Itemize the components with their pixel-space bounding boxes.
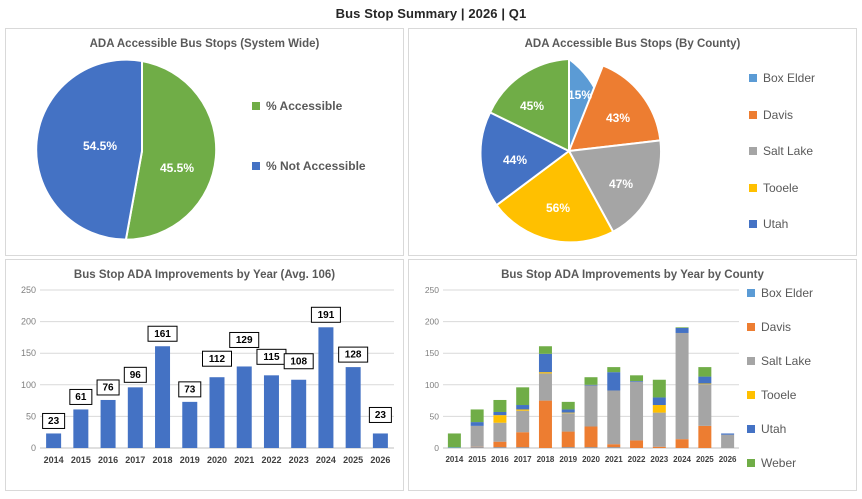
- x-label-2022: 2022: [261, 455, 281, 465]
- legend-swatch-tooele: [749, 184, 757, 192]
- bar-2015[interactable]: [73, 409, 88, 448]
- legend-label-stack-tooele: Tooele: [761, 388, 796, 402]
- legend-swatch-accessible: [252, 102, 260, 110]
- stack-seg-2015-salt-lake[interactable]: [471, 426, 484, 447]
- panel-stacked-year-county: Bus Stop ADA Improvements by Year by Cou…: [408, 259, 857, 491]
- legend-swatch-box-elder: [749, 74, 757, 82]
- stack-seg-2024-weber[interactable]: [676, 327, 689, 328]
- legend-swatch-stack-tooele: [747, 391, 755, 399]
- pie-system-legend: % Accessible % Not Accessible: [252, 99, 366, 219]
- x-label-2018: 2018: [153, 455, 173, 465]
- y-tick-200: 200: [21, 317, 36, 327]
- stack-seg-2023-davis[interactable]: [653, 447, 666, 448]
- x-label-2021: 2021: [605, 455, 623, 464]
- legend-swatch-stack-box-elder: [747, 289, 755, 297]
- legend-label-salt-lake: Salt Lake: [763, 144, 813, 158]
- data-label-2021: 129: [236, 335, 253, 346]
- y-tick-50: 50: [26, 411, 36, 421]
- legend-label-stack-davis: Davis: [761, 320, 791, 334]
- x-label-2016: 2016: [98, 455, 118, 465]
- x-label-2026: 2026: [370, 455, 390, 465]
- stack-seg-2025-utah[interactable]: [698, 377, 711, 384]
- bar-2019[interactable]: [182, 402, 197, 448]
- stacked-plot: 0501001502002502014201520162017201820192…: [409, 280, 749, 486]
- stack-seg-2021-box-elder[interactable]: [607, 447, 620, 448]
- x-label-2019: 2019: [559, 455, 577, 464]
- pie-county-label-weber: 45%: [520, 99, 544, 113]
- legend-item-stack-davis[interactable]: Davis: [747, 320, 813, 334]
- x-label-2022: 2022: [628, 455, 646, 464]
- y-tick-0: 0: [434, 443, 439, 453]
- stack-seg-2017-davis[interactable]: [516, 432, 529, 447]
- stack-seg-2025-davis[interactable]: [698, 426, 711, 448]
- legend-label-weber: Weber: [763, 254, 798, 257]
- stack-seg-2024-salt-lake[interactable]: [676, 333, 689, 439]
- x-label-2014: 2014: [44, 455, 64, 465]
- x-label-2017: 2017: [514, 455, 532, 464]
- stack-seg-2024-davis[interactable]: [676, 439, 689, 448]
- stack-seg-2022-utah[interactable]: [630, 381, 643, 382]
- data-label-2014: 23: [48, 416, 60, 427]
- x-label-2024: 2024: [673, 455, 691, 464]
- stack-seg-2018-tooele[interactable]: [539, 372, 552, 373]
- y-tick-200: 200: [425, 317, 439, 327]
- pie-system-slices: [36, 60, 216, 240]
- stack-seg-2023-weber[interactable]: [653, 380, 666, 398]
- dashboard-root: Bus Stop Summary | 2026 | Q1 ADA Accessi…: [0, 0, 862, 499]
- stack-seg-2022-weber[interactable]: [630, 375, 643, 381]
- stack-seg-2022-davis[interactable]: [630, 440, 643, 448]
- stack-seg-2026-salt-lake[interactable]: [721, 435, 734, 448]
- panel-pie-county: ADA Accessible Bus Stops (By County): [408, 28, 857, 256]
- legend-label-utah: Utah: [763, 217, 788, 231]
- data-label-2016: 76: [103, 383, 115, 394]
- y-tick-150: 150: [425, 348, 439, 358]
- stack-seg-2015-weber[interactable]: [471, 409, 484, 422]
- data-label-2026: 23: [375, 410, 387, 421]
- y-tick-100: 100: [21, 380, 36, 390]
- bar-2017[interactable]: [128, 387, 143, 448]
- stack-seg-2025-tooele[interactable]: [698, 384, 711, 385]
- data-label-2025: 128: [345, 350, 362, 361]
- panel-pie-system: ADA Accessible Bus Stops (System Wide) 5…: [5, 28, 404, 256]
- legend-item-stack-tooele[interactable]: Tooele: [747, 388, 813, 402]
- legend-swatch-not-accessible: [252, 162, 260, 170]
- x-label-2020: 2020: [582, 455, 600, 464]
- x-label-2015: 2015: [71, 455, 91, 465]
- stack-seg-2016-tooele[interactable]: [493, 415, 506, 423]
- data-label-2018: 161: [154, 329, 171, 340]
- stack-seg-2017-salt-lake[interactable]: [516, 411, 529, 432]
- stack-seg-2018-utah[interactable]: [539, 354, 552, 372]
- x-label-2017: 2017: [125, 455, 145, 465]
- stack-seg-2023-utah[interactable]: [653, 397, 666, 405]
- stack-seg-2019-box-elder[interactable]: [562, 447, 575, 448]
- legend-label-accessible: % Accessible: [266, 99, 342, 113]
- stacked-legend: Box Elder Davis Salt Lake Tooele Utah: [747, 286, 813, 490]
- bar-year-plot: 0501001502002502320146120157620169620171…: [6, 280, 403, 486]
- stack-seg-2019-utah[interactable]: [562, 409, 575, 412]
- legend-swatch-stack-davis: [747, 323, 755, 331]
- stacked-title: Bus Stop ADA Improvements by Year by Cou…: [409, 260, 856, 282]
- stack-seg-2021-salt-lake[interactable]: [607, 390, 620, 444]
- x-label-2014: 2014: [445, 455, 463, 464]
- stack-seg-2017-box-elder[interactable]: [516, 447, 529, 448]
- legend-swatch-utah: [749, 220, 757, 228]
- stack-seg-2018-davis[interactable]: [539, 401, 552, 448]
- legend-label-stack-salt-lake: Salt Lake: [761, 354, 811, 368]
- pie-system-label-accessible: 45.5%: [160, 161, 194, 175]
- stack-seg-2020-weber[interactable]: [585, 377, 598, 385]
- stack-seg-2020-utah[interactable]: [585, 385, 598, 386]
- stack-seg-2019-davis[interactable]: [562, 432, 575, 448]
- stack-seg-2014-box-elder[interactable]: [448, 447, 461, 448]
- legend-label-stack-weber: Weber: [761, 456, 796, 470]
- stack-seg-2018-salt-lake[interactable]: [539, 373, 552, 400]
- stack-seg-2019-salt-lake[interactable]: [562, 413, 575, 431]
- stack-seg-2020-davis[interactable]: [585, 427, 598, 448]
- stack-seg-2023-tooele[interactable]: [653, 405, 666, 413]
- pie-system-label-not-accessible: 54.5%: [83, 139, 117, 153]
- data-label-2022: 115: [263, 352, 280, 363]
- bar-2026[interactable]: [373, 433, 388, 448]
- stack-seg-2020-salt-lake[interactable]: [585, 385, 598, 426]
- stack-seg-2021-weber[interactable]: [607, 367, 620, 372]
- bar-2016[interactable]: [101, 400, 116, 448]
- stack-seg-2025-weber[interactable]: [698, 367, 711, 376]
- legend-item-salt-lake[interactable]: Salt Lake: [749, 144, 815, 158]
- stack-seg-2019-tooele[interactable]: [562, 413, 575, 414]
- bar-2025[interactable]: [346, 367, 361, 448]
- stack-seg-2017-utah[interactable]: [516, 405, 529, 409]
- bar-2014[interactable]: [46, 433, 61, 448]
- y-tick-250: 250: [21, 285, 36, 295]
- data-label-2019: 73: [184, 385, 196, 396]
- legend-item-stack-box-elder[interactable]: Box Elder: [747, 286, 813, 300]
- data-label-2024: 191: [318, 310, 335, 321]
- stack-seg-2020-box-elder[interactable]: [585, 447, 598, 448]
- bar-2023[interactable]: [291, 380, 306, 448]
- x-label-2024: 2024: [316, 455, 336, 465]
- stack-seg-2014-weber[interactable]: [448, 433, 461, 447]
- x-label-2016: 2016: [491, 455, 509, 464]
- stack-seg-2022-salt-lake[interactable]: [630, 382, 643, 441]
- stack-seg-2019-weber[interactable]: [562, 402, 575, 410]
- stack-seg-2016-weber[interactable]: [493, 400, 506, 412]
- legend-item-box-elder[interactable]: Box Elder: [749, 71, 815, 85]
- legend-swatch-salt-lake: [749, 147, 757, 155]
- legend-item-stack-salt-lake[interactable]: Salt Lake: [747, 354, 813, 368]
- pie-county-title: ADA Accessible Bus Stops (By County): [409, 29, 856, 51]
- stack-seg-2015-davis[interactable]: [471, 447, 484, 448]
- y-tick-250: 250: [425, 285, 439, 295]
- x-label-2023: 2023: [650, 455, 668, 464]
- x-label-2023: 2023: [289, 455, 309, 465]
- x-label-2026: 2026: [719, 455, 737, 464]
- stack-seg-2015-utah[interactable]: [471, 422, 484, 426]
- data-label-2020: 112: [209, 354, 226, 365]
- pie-county-label-tooele: 56%: [546, 201, 570, 215]
- stack-seg-2023-salt-lake[interactable]: [653, 413, 666, 447]
- stack-seg-2025-salt-lake[interactable]: [698, 384, 711, 426]
- data-label-2015: 61: [75, 392, 87, 403]
- legend-item-not-accessible[interactable]: % Not Accessible: [252, 159, 366, 173]
- bar-2020[interactable]: [210, 377, 225, 448]
- pie-county-slices: [480, 59, 661, 242]
- y-tick-50: 50: [430, 411, 440, 421]
- x-label-2025: 2025: [343, 455, 363, 465]
- legend-swatch-stack-utah: [747, 425, 755, 433]
- stack-seg-2016-utah[interactable]: [493, 412, 506, 415]
- legend-label-stack-box-elder: Box Elder: [761, 286, 813, 300]
- bar-year-title: Bus Stop ADA Improvements by Year (Avg. …: [6, 260, 403, 282]
- stack-seg-2017-tooele[interactable]: [516, 409, 529, 410]
- stack-seg-2021-utah[interactable]: [607, 372, 620, 390]
- legend-item-weber[interactable]: Weber: [749, 254, 815, 257]
- pie-county-label-salt-lake: 47%: [609, 177, 633, 191]
- pie-county-label-davis: 43%: [606, 111, 630, 125]
- legend-item-accessible[interactable]: % Accessible: [252, 99, 366, 113]
- bar-2022[interactable]: [264, 375, 279, 448]
- legend-item-utah[interactable]: Utah: [749, 217, 815, 231]
- x-label-2025: 2025: [696, 455, 714, 464]
- legend-label-box-elder: Box Elder: [763, 71, 815, 85]
- stack-seg-2024-utah[interactable]: [676, 328, 689, 333]
- x-label-2020: 2020: [207, 455, 227, 465]
- y-tick-0: 0: [31, 443, 36, 453]
- pie-county-legend: Box Elder Davis Salt Lake Tooele: [749, 71, 815, 256]
- legend-swatch-stack-weber: [747, 459, 755, 467]
- stack-seg-2015-box-elder[interactable]: [471, 447, 484, 448]
- legend-label-tooele: Tooele: [763, 181, 798, 195]
- stack-seg-2017-weber[interactable]: [516, 387, 529, 405]
- pie-county-label-utah: 44%: [503, 153, 527, 167]
- pie-system-plot: 54.5% 45.5% % Accessible % Not Accessibl…: [6, 51, 403, 255]
- stack-seg-2026-utah[interactable]: [721, 433, 734, 434]
- stack-seg-2016-davis[interactable]: [493, 442, 506, 448]
- bar-2021[interactable]: [237, 366, 252, 448]
- legend-swatch-davis: [749, 111, 757, 119]
- legend-item-stack-weber[interactable]: Weber: [747, 456, 813, 470]
- panel-bar-year: Bus Stop ADA Improvements by Year (Avg. …: [5, 259, 404, 491]
- bar-2018[interactable]: [155, 346, 170, 448]
- data-label-2023: 108: [290, 356, 307, 367]
- pie-county-plot: 15% 43% 47% 56% 44% 45% Box Elder Davis: [409, 51, 856, 255]
- dashboard-title: Bus Stop Summary | 2026 | Q1: [0, 0, 862, 21]
- legend-item-tooele[interactable]: Tooele: [749, 181, 815, 195]
- legend-label-stack-utah: Utah: [761, 422, 786, 436]
- pie-county-label-box-elder: 15%: [568, 88, 592, 102]
- panel-grid: ADA Accessible Bus Stops (System Wide) 5…: [5, 28, 857, 494]
- legend-item-davis[interactable]: Davis: [749, 108, 815, 122]
- x-label-2021: 2021: [234, 455, 254, 465]
- legend-item-stack-utah[interactable]: Utah: [747, 422, 813, 436]
- legend-swatch-stack-salt-lake: [747, 357, 755, 365]
- legend-label-not-accessible: % Not Accessible: [266, 159, 366, 173]
- bar-2024[interactable]: [318, 327, 333, 448]
- x-label-2019: 2019: [180, 455, 200, 465]
- data-label-2017: 96: [130, 370, 142, 381]
- y-tick-100: 100: [425, 380, 439, 390]
- stack-seg-2018-weber[interactable]: [539, 346, 552, 354]
- x-label-2015: 2015: [468, 455, 486, 464]
- stack-seg-2016-salt-lake[interactable]: [493, 423, 506, 442]
- x-label-2018: 2018: [537, 455, 555, 464]
- stack-seg-2016-box-elder[interactable]: [493, 447, 506, 448]
- y-tick-150: 150: [21, 348, 36, 358]
- stack-seg-2021-davis[interactable]: [607, 444, 620, 447]
- legend-label-davis: Davis: [763, 108, 793, 122]
- pie-system-title: ADA Accessible Bus Stops (System Wide): [6, 29, 403, 51]
